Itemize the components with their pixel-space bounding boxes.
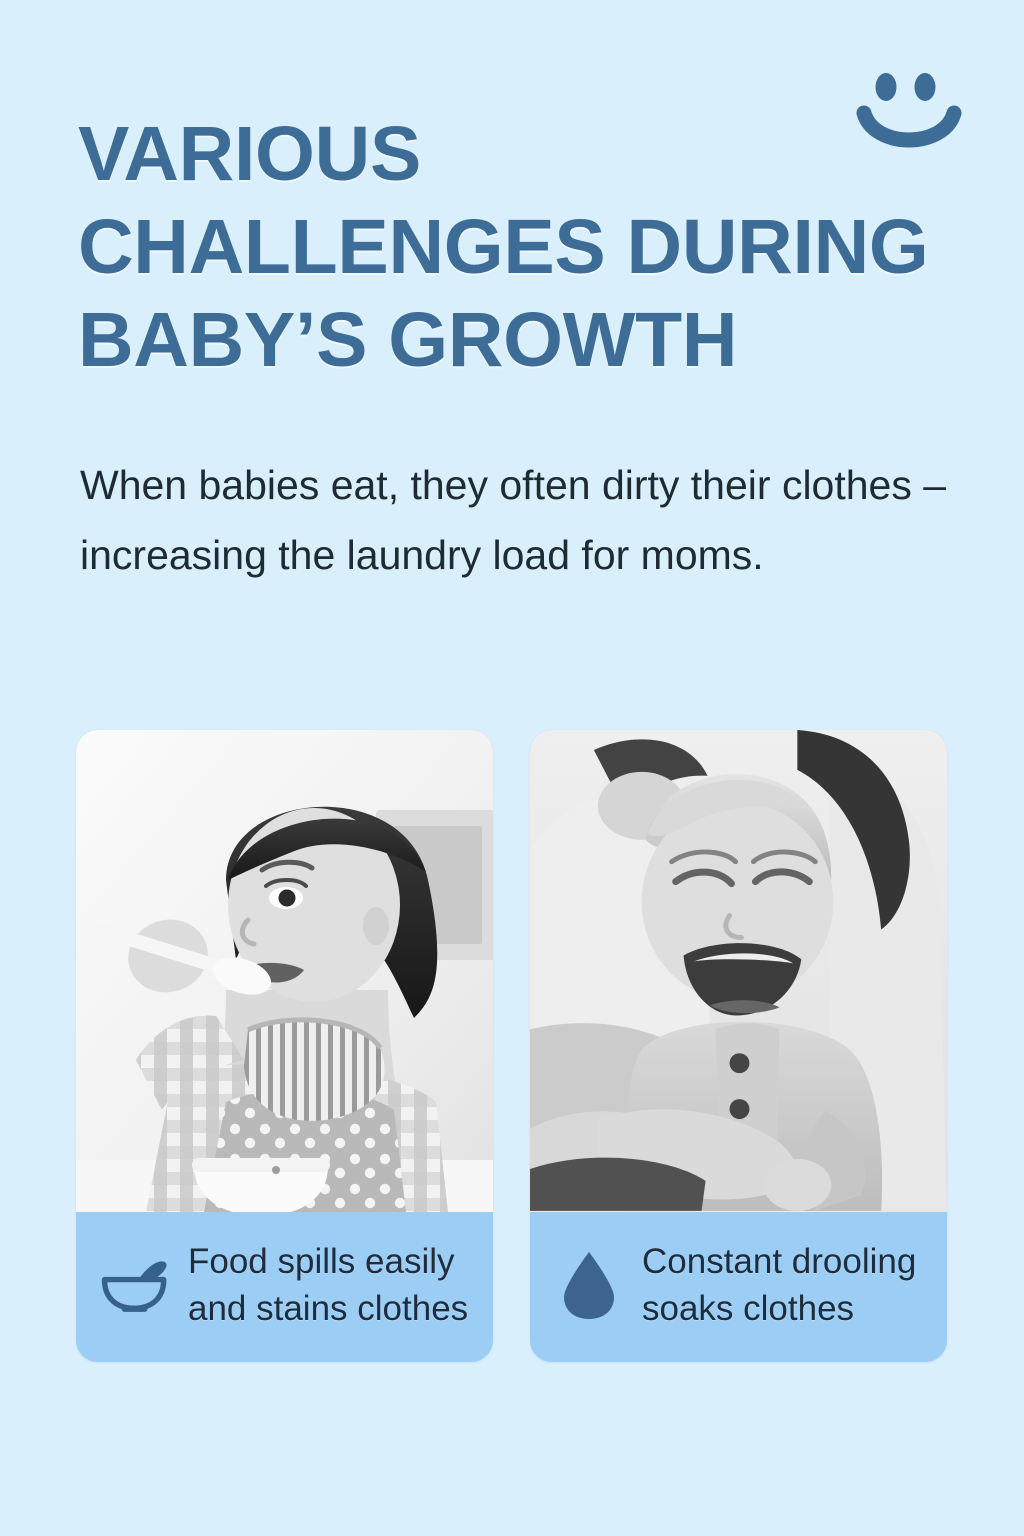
- subcopy-text: When babies eat, they often dirty their …: [80, 450, 950, 590]
- page-title: VARIOUS CHALLENGES DURING BABY’S GROWTH: [78, 108, 958, 387]
- challenge-card-constant-drooling: Constant drooling soaks clothes: [530, 730, 947, 1362]
- photo-crying-toddler: [530, 730, 947, 1212]
- card-caption-text: Constant drooling soaks clothes: [642, 1238, 923, 1332]
- photo-toddler-eating: [76, 730, 493, 1212]
- headline-line-3: BABY’S GROWTH: [78, 294, 958, 387]
- card-caption-food-spills: Food spills easily and stains clothes: [76, 1212, 493, 1362]
- card-caption-constant-drooling: Constant drooling soaks clothes: [530, 1212, 947, 1362]
- headline-line-1: VARIOUS: [78, 108, 958, 201]
- water-drop-icon: [554, 1249, 624, 1321]
- challenge-card-list: Food spills easily and stains clothes: [76, 730, 948, 1362]
- bowl-with-spoon-icon: [100, 1254, 170, 1316]
- poster-canvas: VARIOUS CHALLENGES DURING BABY’S GROWTH …: [0, 0, 1024, 1536]
- headline-line-2: CHALLENGES DURING: [78, 201, 958, 294]
- card-caption-text: Food spills easily and stains clothes: [188, 1238, 469, 1332]
- challenge-card-food-spills: Food spills easily and stains clothes: [76, 730, 493, 1362]
